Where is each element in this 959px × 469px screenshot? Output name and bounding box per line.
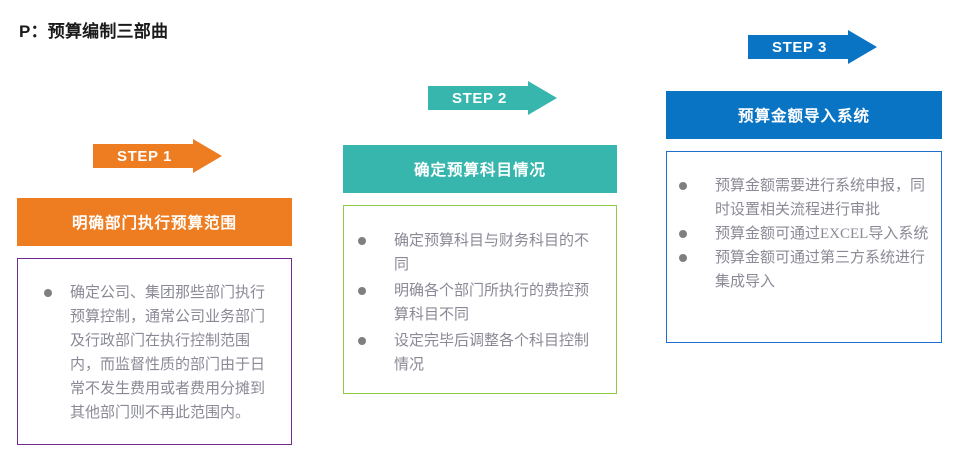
step-3-bullet-list: 预算金额需要进行系统申报，同时设置相关流程进行审批 预算金额可通过EXCEL导入… [667,152,941,294]
bullet-dot-icon [358,287,366,295]
bullet-dot-icon [679,182,687,190]
right-arrow-icon [428,81,557,115]
step-1-bullet-list: 确定公司、集团那些部门执行预算控制，通常公司业务部门及行政部门在执行控制范围内，… [18,259,291,425]
step-1-header: 明确部门执行预算范围 [17,198,292,246]
list-item-text: 确定公司、集团那些部门执行预算控制，通常公司业务部门及行政部门在执行控制范围内，… [70,281,275,425]
list-item-text: 设定完毕后调整各个科目控制情况 [394,329,602,377]
step-2-header: 确定预算科目情况 [343,145,617,193]
bullet-dot-icon [679,230,687,238]
step-3-header: 预算金额导入系统 [666,91,942,139]
page-title: P：预算编制三部曲 [19,17,168,42]
right-arrow-icon [93,139,222,173]
step-3-body: 预算金额需要进行系统申报，同时设置相关流程进行审批 预算金额可通过EXCEL导入… [666,151,942,343]
list-item-text: 预算金额需要进行系统申报，同时设置相关流程进行审批 [715,174,929,222]
step-1-body: 确定公司、集团那些部门执行预算控制，通常公司业务部门及行政部门在执行控制范围内，… [17,258,292,445]
bullet-dot-icon [358,337,366,345]
step-2-bullet-list: 确定预算科目与财务科目的不同 明确各个部门所执行的费控预算科目不同 设定完毕后调… [344,206,616,377]
list-item: 设定完毕后调整各个科目控制情况 [358,329,602,377]
list-item: 预算金额需要进行系统申报，同时设置相关流程进行审批 [679,174,929,222]
step-3-arrow-banner: STEP 3 [748,30,877,64]
list-item: 确定预算科目与财务科目的不同 [358,229,602,277]
step-2-body: 确定预算科目与财务科目的不同 明确各个部门所执行的费控预算科目不同 设定完毕后调… [343,205,617,394]
list-item-text: 预算金额可通过EXCEL导入系统 [715,222,929,246]
right-arrow-icon [748,30,877,64]
list-item-text: 确定预算科目与财务科目的不同 [394,229,602,277]
list-item-text: 预算金额可通过第三方系统进行集成导入 [715,246,929,294]
bullet-dot-icon [44,289,52,297]
list-item: 预算金额可通过第三方系统进行集成导入 [679,246,929,294]
step-2-arrow-banner: STEP 2 [428,81,557,115]
list-item: 明确各个部门所执行的费控预算科目不同 [358,279,602,327]
list-item: 确定公司、集团那些部门执行预算控制，通常公司业务部门及行政部门在执行控制范围内，… [44,281,275,425]
list-item: 预算金额可通过EXCEL导入系统 [679,222,929,246]
step-1-arrow-banner: STEP 1 [93,139,222,173]
list-item-text: 明确各个部门所执行的费控预算科目不同 [394,279,602,327]
bullet-dot-icon [679,254,687,262]
bullet-dot-icon [358,237,366,245]
